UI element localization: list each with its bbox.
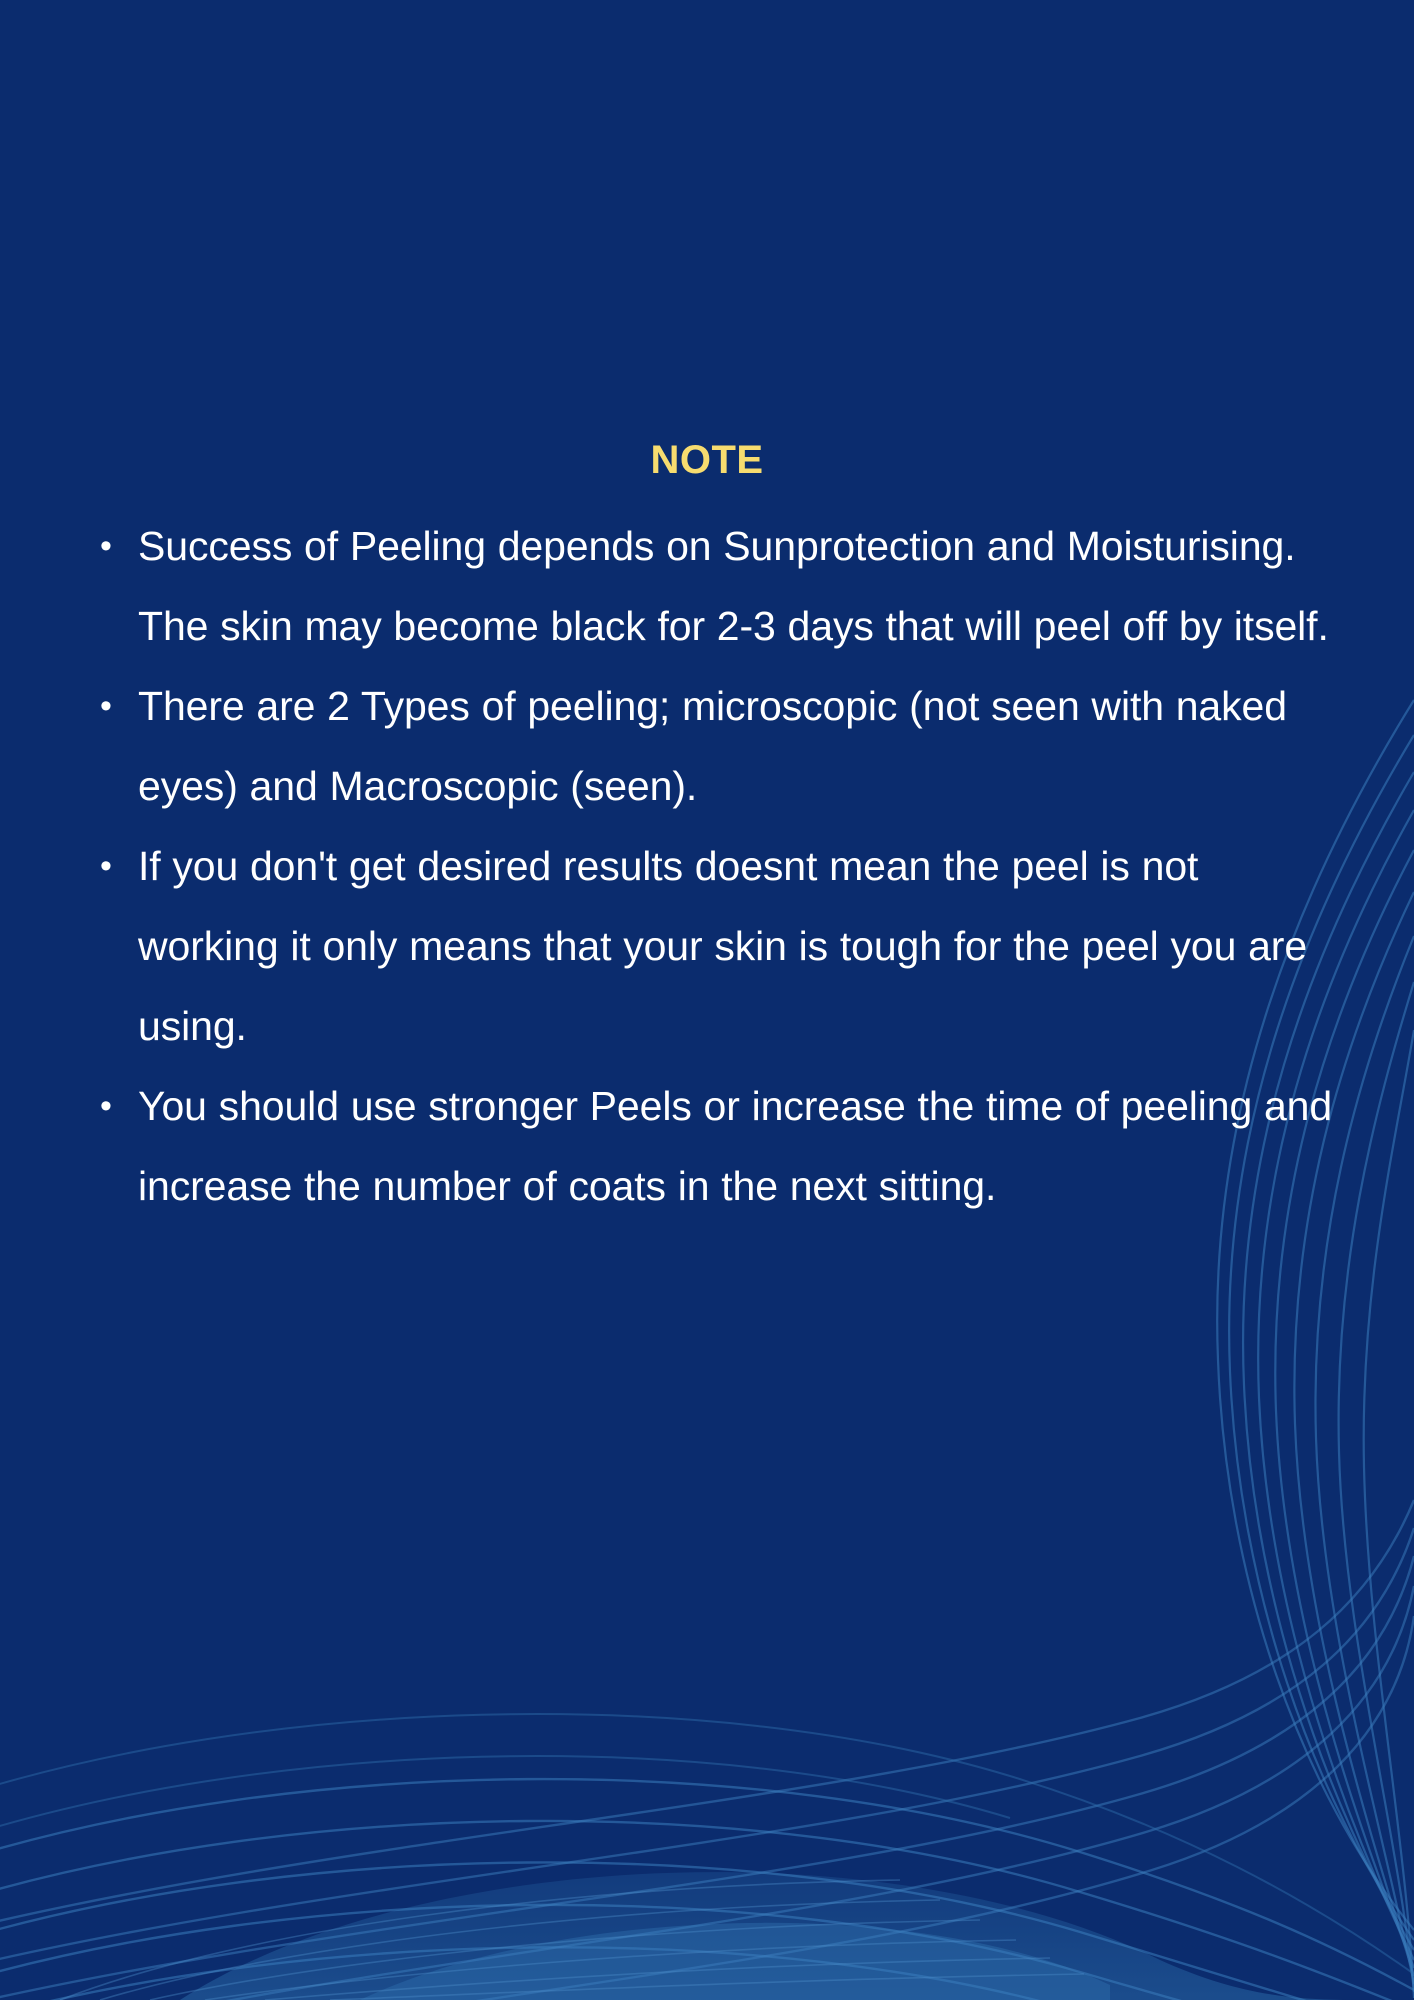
page-title: NOTE	[0, 440, 1414, 480]
list-item: • If you don't get desired results doesn…	[96, 826, 1346, 1066]
list-item-text: There are 2 Types of peeling; microscopi…	[138, 666, 1346, 826]
list-item-text: If you don't get desired results doesnt …	[138, 826, 1346, 1066]
bullet-dot-icon: •	[100, 826, 142, 906]
slide-content: NOTE • Success of Peeling depends on Sun…	[0, 0, 1414, 2000]
list-item-text: Success of Peeling depends on Sunprotect…	[138, 506, 1346, 666]
list-item: • Success of Peeling depends on Sunprote…	[96, 506, 1346, 666]
bullet-dot-icon: •	[100, 506, 142, 586]
bullet-dot-icon: •	[100, 1066, 142, 1146]
list-item: • You should use stronger Peels or incre…	[96, 1066, 1346, 1226]
note-bullet-list: • Success of Peeling depends on Sunprote…	[96, 506, 1346, 1226]
list-item-text: You should use stronger Peels or increas…	[138, 1066, 1346, 1226]
slide-canvas: NOTE • Success of Peeling depends on Sun…	[0, 0, 1414, 2000]
bullet-dot-icon: •	[100, 666, 142, 746]
list-item: • There are 2 Types of peeling; microsco…	[96, 666, 1346, 826]
